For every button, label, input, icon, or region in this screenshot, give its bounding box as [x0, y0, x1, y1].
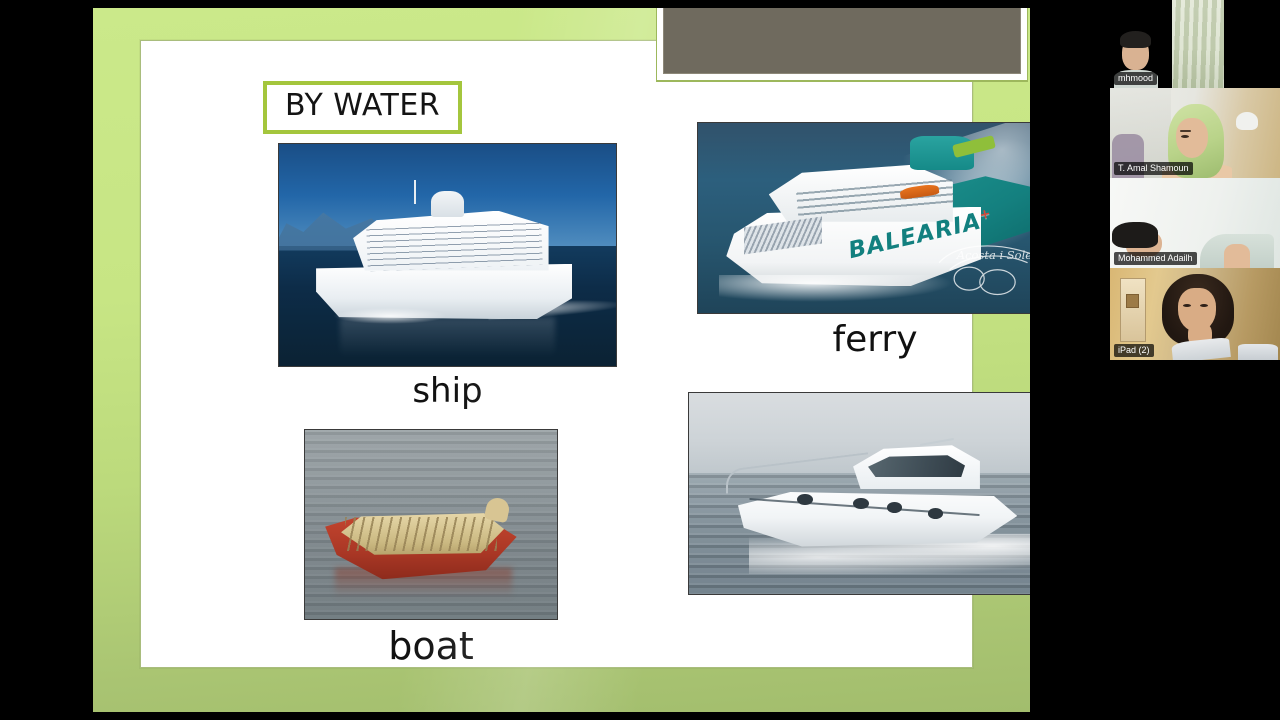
shared-slide[interactable]: BY WATER ship	[93, 8, 1030, 712]
ship-photo	[278, 143, 617, 367]
ferry-watermark-icon: Acosta i Solen	[932, 231, 1030, 303]
boat-photo	[304, 429, 558, 620]
slide-title: BY WATER	[285, 91, 440, 121]
image-yacht	[688, 392, 1030, 595]
participant-name: mhmood	[1114, 72, 1157, 85]
zoom-meeting-window: BY WATER ship	[0, 0, 1280, 720]
participant-name: iPad (2)	[1114, 344, 1154, 357]
svg-text:Acosta i Solen: Acosta i Solen	[955, 248, 1030, 262]
caption-ferry: ferry	[697, 322, 1030, 358]
slide-title-box: BY WATER	[263, 81, 462, 134]
participant-filmstrip[interactable]: mhmood T. Amal Shamoun	[1110, 0, 1280, 360]
participant-tile[interactable]: Mohammed Adailh	[1110, 178, 1280, 268]
image-ship	[278, 143, 617, 367]
participant-tile[interactable]: iPad (2)	[1110, 268, 1280, 360]
participant-tile[interactable]: T. Amal Shamoun	[1110, 88, 1280, 178]
caption-boat: boat	[304, 627, 558, 665]
media-placeholder-fill	[663, 8, 1021, 74]
participant-name: T. Amal Shamoun	[1114, 162, 1193, 175]
participant-name: Mohammed Adailh	[1114, 252, 1197, 265]
participant-tile[interactable]: mhmood	[1110, 0, 1280, 88]
yacht-photo	[688, 392, 1030, 595]
caption-ship: ship	[278, 374, 617, 408]
media-placeholder[interactable]	[656, 8, 1028, 82]
image-ferry: BALEARIA+ Acosta i Solen	[697, 122, 1030, 314]
ferry-photo: BALEARIA+ Acosta i Solen	[697, 122, 1030, 314]
image-boat	[304, 429, 558, 620]
